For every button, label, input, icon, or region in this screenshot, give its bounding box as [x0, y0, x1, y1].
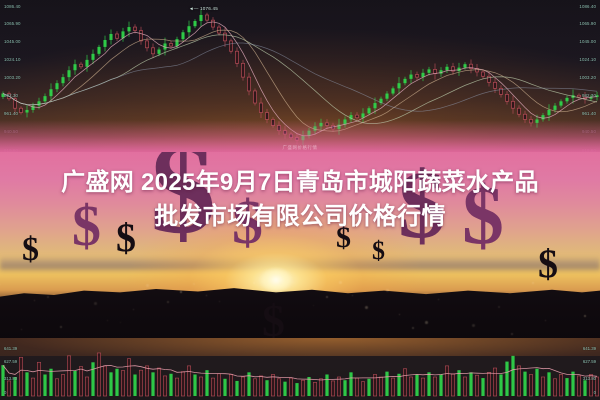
bokeh-dot	[94, 302, 97, 305]
price-tick-label: 1065.90	[579, 21, 596, 26]
price-chart-panel: ◄— 1076.45 1086.401065.901045.001024.101…	[0, 0, 600, 160]
volume-chart-panel: 641.39627.59313.800 641.39627.59313.800	[0, 338, 600, 400]
price-tick-label: 1024.10	[579, 57, 596, 62]
price-tick-label: 982.30	[582, 93, 596, 98]
volume-tick-label: 627.59	[4, 359, 17, 364]
price-tick-label: 1065.90	[4, 21, 21, 26]
bokeh-dot	[438, 299, 439, 300]
dollar-sign-icon: $	[262, 302, 285, 340]
price-tick-label: 1045.00	[4, 39, 21, 44]
volume-tick-label: 313.80	[583, 376, 596, 381]
bokeh-dot	[313, 305, 314, 306]
bokeh-dot	[485, 291, 486, 292]
bokeh-dot	[180, 291, 182, 293]
bokeh-dot	[352, 295, 353, 296]
peak-annotation: ◄— 1076.45	[189, 6, 218, 11]
volume-tick-label: 313.80	[4, 376, 17, 381]
volume-tick-label: 0	[594, 390, 596, 395]
bokeh-dot	[584, 315, 586, 317]
bokeh-dot	[425, 321, 428, 324]
volume-tick-label: 627.59	[583, 359, 596, 364]
bokeh-dot	[240, 280, 241, 281]
price-tick-label: 961.40	[582, 111, 596, 116]
volume-tick-label: 0	[4, 390, 6, 395]
dollar-sign-icon: $	[22, 236, 39, 264]
bokeh-dot	[279, 282, 282, 285]
bokeh-dot	[0, 284, 1, 285]
price-tick-label: 1045.00	[579, 39, 596, 44]
price-tick-label: 1086.40	[4, 4, 21, 9]
bokeh-dot	[326, 296, 328, 298]
bokeh-dot	[511, 333, 513, 335]
volume-tick-label: 641.39	[583, 346, 596, 351]
bokeh-dot	[60, 326, 62, 328]
price-tick-label: 982.30	[4, 93, 18, 98]
stock-market-news-banner: ◄— 1076.45 1086.401065.901045.001024.101…	[0, 0, 600, 400]
bokeh-dot	[292, 281, 294, 283]
dollar-sign-icon: $	[372, 240, 385, 261]
price-tick-label: 1086.40	[579, 4, 596, 9]
overlay-faded-label: 广盛网价格行情	[283, 145, 318, 151]
bokeh-dot	[532, 282, 534, 284]
volume-bar-series	[0, 338, 600, 400]
bokeh-dot	[167, 301, 169, 303]
price-tick-label: 1003.20	[4, 75, 21, 80]
headline-line-2: 批发市场有限公司价格行情	[22, 200, 578, 234]
bokeh-dot	[399, 314, 400, 315]
bokeh-dot	[120, 322, 121, 323]
headline-line-1: 广盛网 2025年9月7日青岛市城阳蔬菜水产品	[22, 166, 578, 200]
sunset-title-section: $$$$$$$$$$$ 广盛网 2025年9月7日青岛市城阳蔬菜水产品 批发市场…	[0, 152, 600, 350]
headline: 广盛网 2025年9月7日青岛市城阳蔬菜水产品 批发市场有限公司价格行情	[0, 166, 600, 234]
bokeh-dot	[339, 281, 342, 284]
volume-tick-label: 641.39	[4, 346, 17, 351]
price-tick-label: 1003.20	[579, 75, 596, 80]
bokeh-dot	[146, 284, 149, 287]
price-tick-label: 961.40	[4, 111, 18, 116]
dollar-sign-icon: $	[538, 248, 558, 281]
price-tick-label: 1024.10	[4, 57, 21, 62]
